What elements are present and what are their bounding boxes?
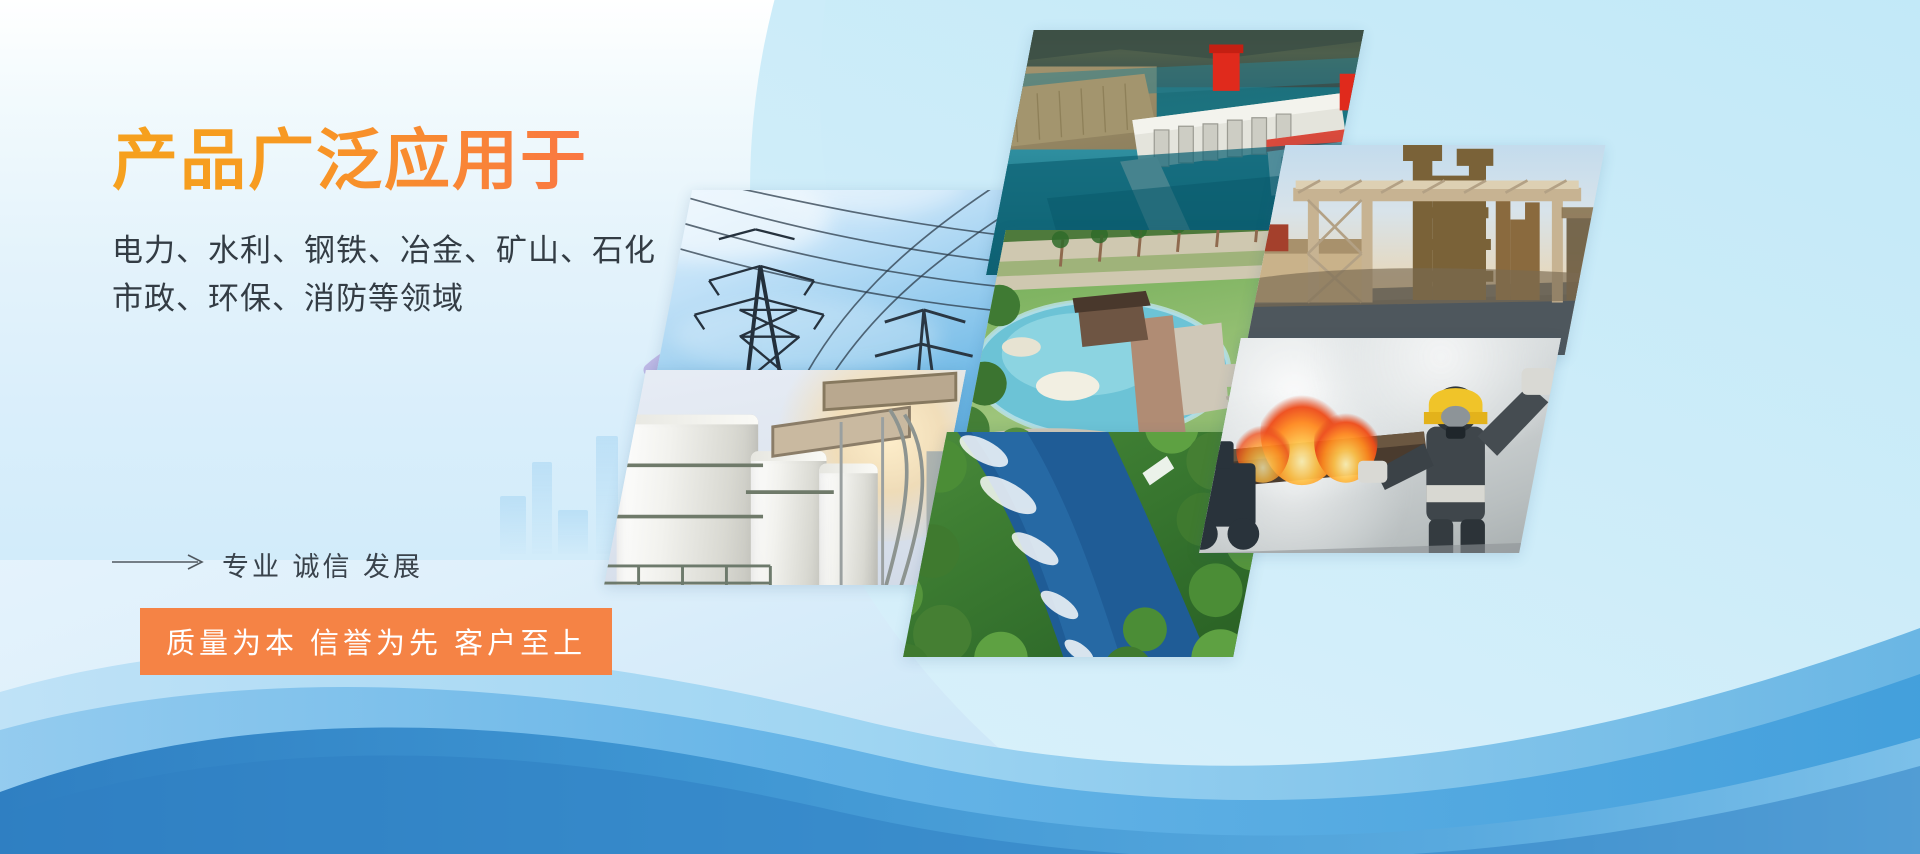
banner-copy-block: 产品广泛应用于 电力、水利、钢铁、冶金、矿山、石化 市政、环保、消防等领域 — [112, 120, 812, 323]
tagline-row: 专业 诚信 发展 — [112, 545, 423, 584]
promo-banner: 产品广泛应用于 电力、水利、钢铁、冶金、矿山、石化 市政、环保、消防等领域 专业… — [0, 0, 1920, 854]
status-badge: 质量为本 信誉为先 客户至上 — [140, 608, 612, 675]
long-arrow-right-icon — [112, 553, 208, 576]
collage-tile-steel-mill — [1245, 145, 1606, 355]
subtitle-line-2: 市政、环保、消防等领域 — [112, 275, 812, 323]
tagline-text: 专业 诚信 发展 — [222, 545, 423, 584]
subtitle-line-1: 电力、水利、钢铁、冶金、矿山、石化 — [112, 227, 812, 275]
page-title: 产品广泛应用于 — [112, 120, 812, 201]
collage-tile-oil-tanks — [604, 370, 966, 585]
collage-tile-firefighter — [1199, 338, 1561, 553]
industry-photo-collage — [620, 40, 1920, 660]
